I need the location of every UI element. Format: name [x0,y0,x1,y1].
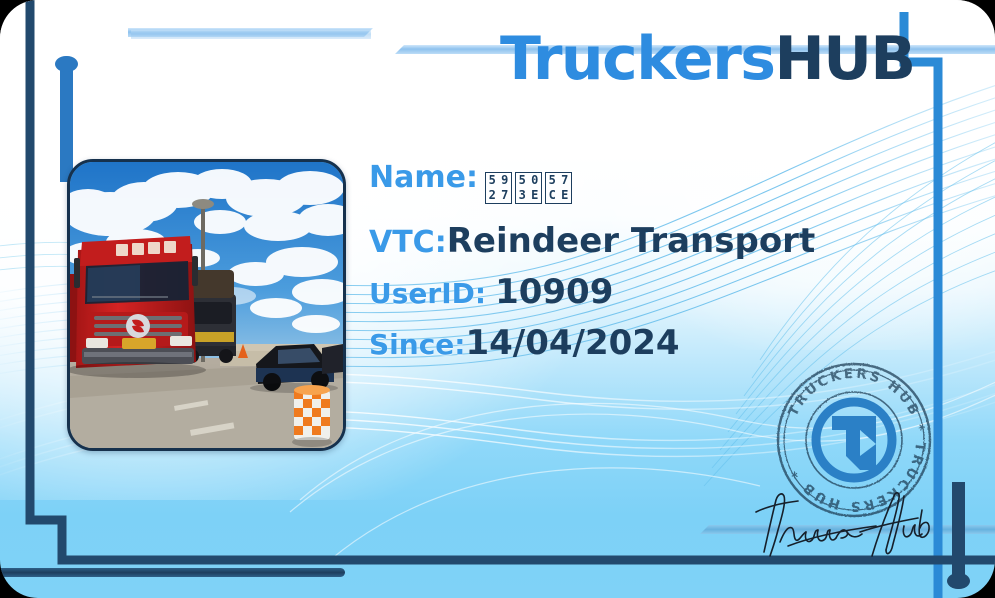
field-value-vtc: Reindeer Transport [447,224,816,258]
decor-pin-top-left [60,62,73,182]
decor-bar-top-2 [131,30,371,39]
card-fields: Name: 5927 503E 57CE VTC: Reindeer Trans… [369,163,929,360]
decor-bar-bottom-left [0,568,345,577]
id-card: TruckersHUB [0,0,995,598]
field-row-vtc: VTC: Reindeer Transport [369,224,929,258]
brand-logo-secondary: HUB [775,24,915,94]
missing-glyph-box: 5927 [485,172,512,204]
field-row-name: Name: 5927 503E 57CE [369,163,929,207]
field-label-since: Since: [369,331,465,359]
field-label-userid: UserID: [369,280,486,308]
field-value-userid: 10909 [495,275,613,309]
field-label-name: Name: [369,163,478,193]
signature [754,486,954,560]
brand-logo: TruckersHUB [500,24,915,94]
missing-glyph-box: 57CE [545,172,572,204]
missing-glyph-box: 503E [515,172,542,204]
driver-photo [67,159,346,451]
field-row-userid: UserID: 10909 [369,275,929,309]
field-label-vtc: VTC: [369,228,447,258]
field-value-name: 5927 503E 57CE [485,172,572,204]
brand-logo-primary: Truckers [500,24,775,94]
field-value-since: 14/04/2024 [465,326,679,360]
